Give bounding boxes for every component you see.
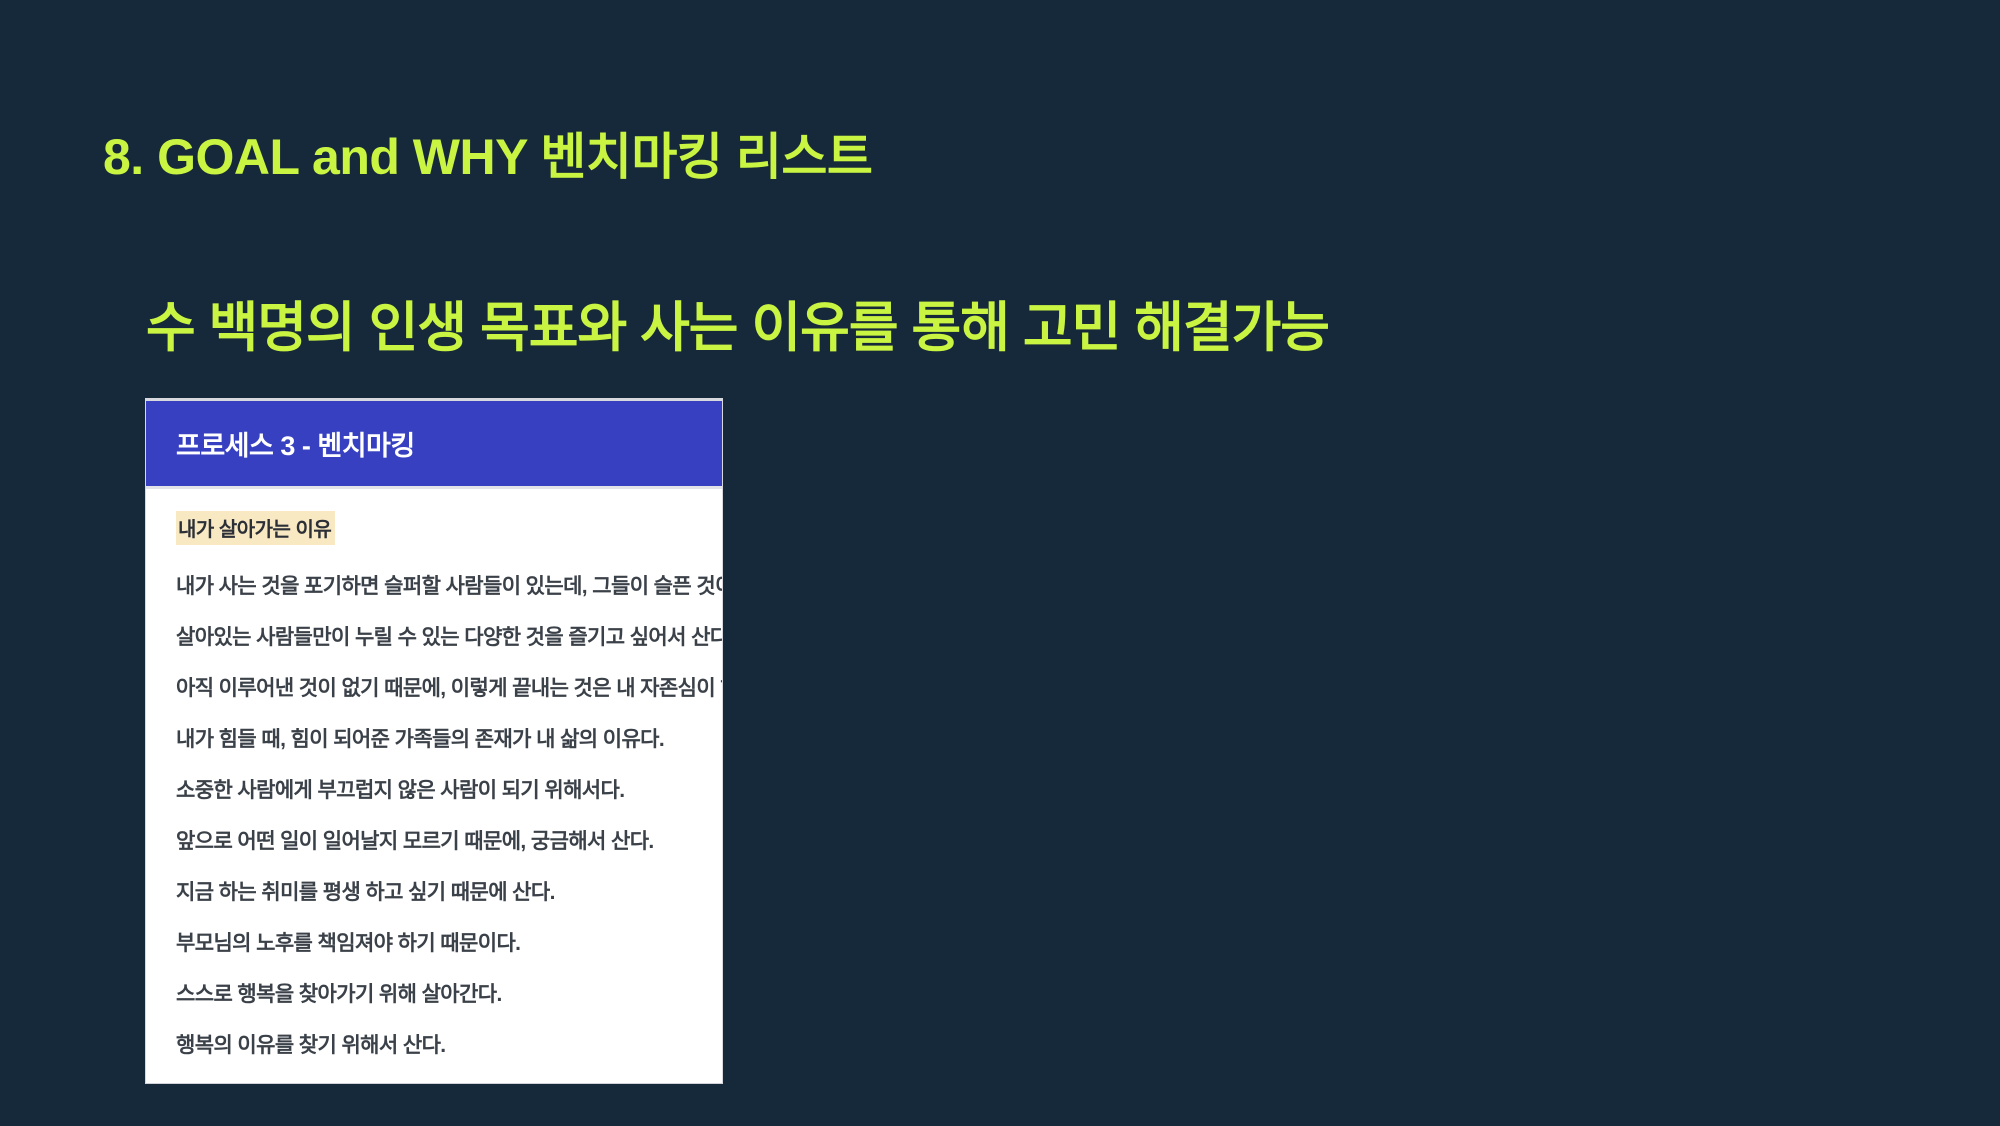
list-item: 행복의 이유를 찾기 위해서 산다. xyxy=(176,1020,722,1071)
slide-canvas: 8. GOAL and WHY 벤치마킹 리스트 수 백명의 인생 목표와 사는… xyxy=(0,0,2000,1126)
list-item: 스스로 행복을 찾아가기 위해 살아간다. xyxy=(176,969,722,1020)
slide-subtitle: 수 백명의 인생 목표와 사는 이유를 통해 고민 해결가능 xyxy=(146,299,1329,358)
page-title: 8. GOAL and WHY 벤치마킹 리스트 xyxy=(103,130,872,185)
card-body: 내가 살아가는 이유 내가 사는 것을 포기하면 슬퍼할 사람들이 있는데, 그… xyxy=(146,489,722,1071)
list-item: 앞으로 어떤 일이 일어날지 모르기 때문에, 궁금해서 산다. xyxy=(176,816,722,867)
list-item: 살아있는 사람들만이 누릴 수 있는 다양한 것을 즐기고 싶어서 산다 xyxy=(176,612,722,663)
list-item: 내가 사는 것을 포기하면 슬퍼할 사람들이 있는데, 그들이 슬픈 것이 xyxy=(176,561,722,612)
benchmarking-screenshot-card: 프로세스 3 - 벤치마킹 내가 살아가는 이유 내가 사는 것을 포기하면 슬… xyxy=(145,398,723,1084)
list-item: 지금 하는 취미를 평생 하고 싶기 때문에 산다. xyxy=(176,867,722,918)
list-item: 부모님의 노후를 책임져야 하기 때문이다. xyxy=(176,918,722,969)
list-item: 내가 힘들 때, 힘이 되어준 가족들의 존재가 내 삶의 이유다. xyxy=(176,714,722,765)
card-header: 프로세스 3 - 벤치마킹 xyxy=(146,401,722,489)
list-item: 소중한 사람에게 부끄럽지 않은 사람이 되기 위해서다. xyxy=(176,765,722,816)
section-heading: 내가 살아가는 이유 xyxy=(176,511,335,545)
list-item: 아직 이루어낸 것이 없기 때문에, 이렇게 끝내는 것은 내 자존심이 허 xyxy=(176,663,722,714)
reason-list: 내가 사는 것을 포기하면 슬퍼할 사람들이 있는데, 그들이 슬픈 것이 살아… xyxy=(176,561,722,1071)
card-header-title: 프로세스 3 - 벤치마킹 xyxy=(176,424,415,463)
section-heading-wrap: 내가 살아가는 이유 xyxy=(176,511,722,561)
